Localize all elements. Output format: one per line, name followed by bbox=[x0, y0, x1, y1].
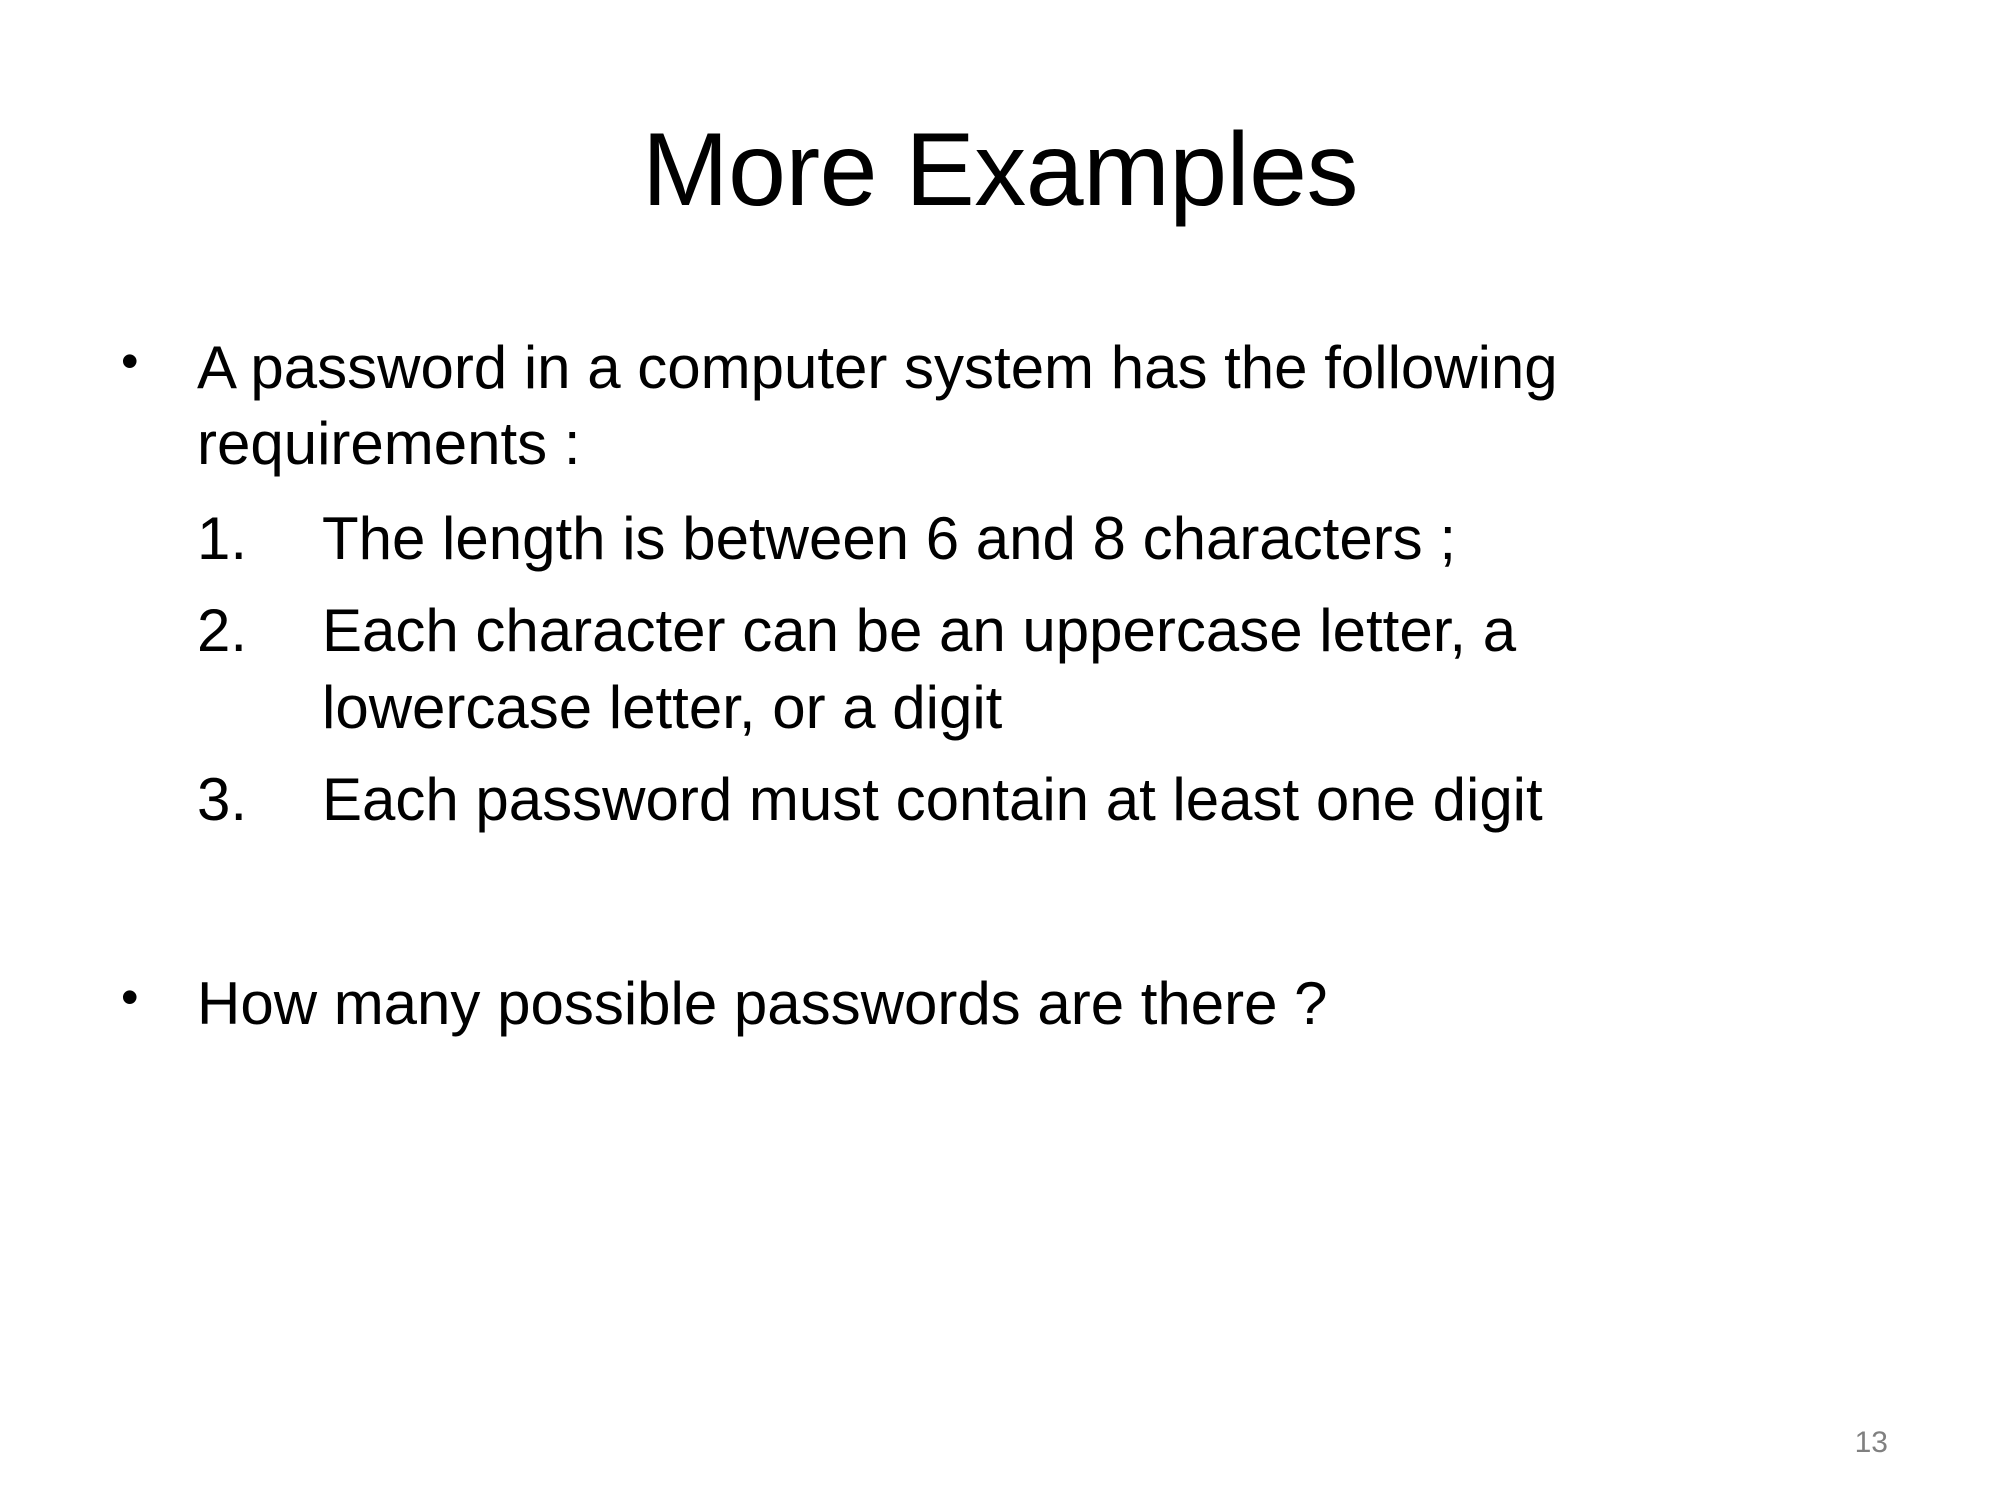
bullet-dot-icon: • bbox=[100, 330, 197, 393]
list-item: 2. Each character can be an uppercase le… bbox=[100, 593, 1890, 745]
list-item: 1. The length is between 6 and 8 charact… bbox=[100, 501, 1890, 577]
list-number: 3. bbox=[100, 762, 322, 838]
list-item-text: The length is between 6 and 8 characters… bbox=[322, 501, 1792, 577]
page-number: 13 bbox=[1855, 1428, 1888, 1458]
slide-body: • A password in a computer system has th… bbox=[100, 330, 1890, 1042]
bullet-text: A password in a computer system has the … bbox=[197, 330, 1762, 481]
list-item: 3. Each password must contain at least o… bbox=[100, 762, 1890, 838]
slide-canvas: More Examples • A password in a computer… bbox=[0, 0, 2000, 1500]
bullet-dot-icon: • bbox=[100, 966, 197, 1029]
list-item: • How many possible passwords are there … bbox=[100, 966, 1890, 1042]
list-number: 2. bbox=[100, 593, 322, 669]
list-number: 1. bbox=[100, 501, 322, 577]
list-item-text: Each character can be an uppercase lette… bbox=[322, 593, 1792, 745]
list-item-text: Each password must contain at least one … bbox=[322, 762, 1792, 838]
spacer bbox=[100, 854, 1890, 966]
numbered-list: 1. The length is between 6 and 8 charact… bbox=[100, 501, 1890, 838]
list-item: • A password in a computer system has th… bbox=[100, 330, 1890, 481]
page-title: More Examples bbox=[0, 112, 2000, 228]
bullet-text: How many possible passwords are there ? bbox=[197, 966, 1762, 1042]
